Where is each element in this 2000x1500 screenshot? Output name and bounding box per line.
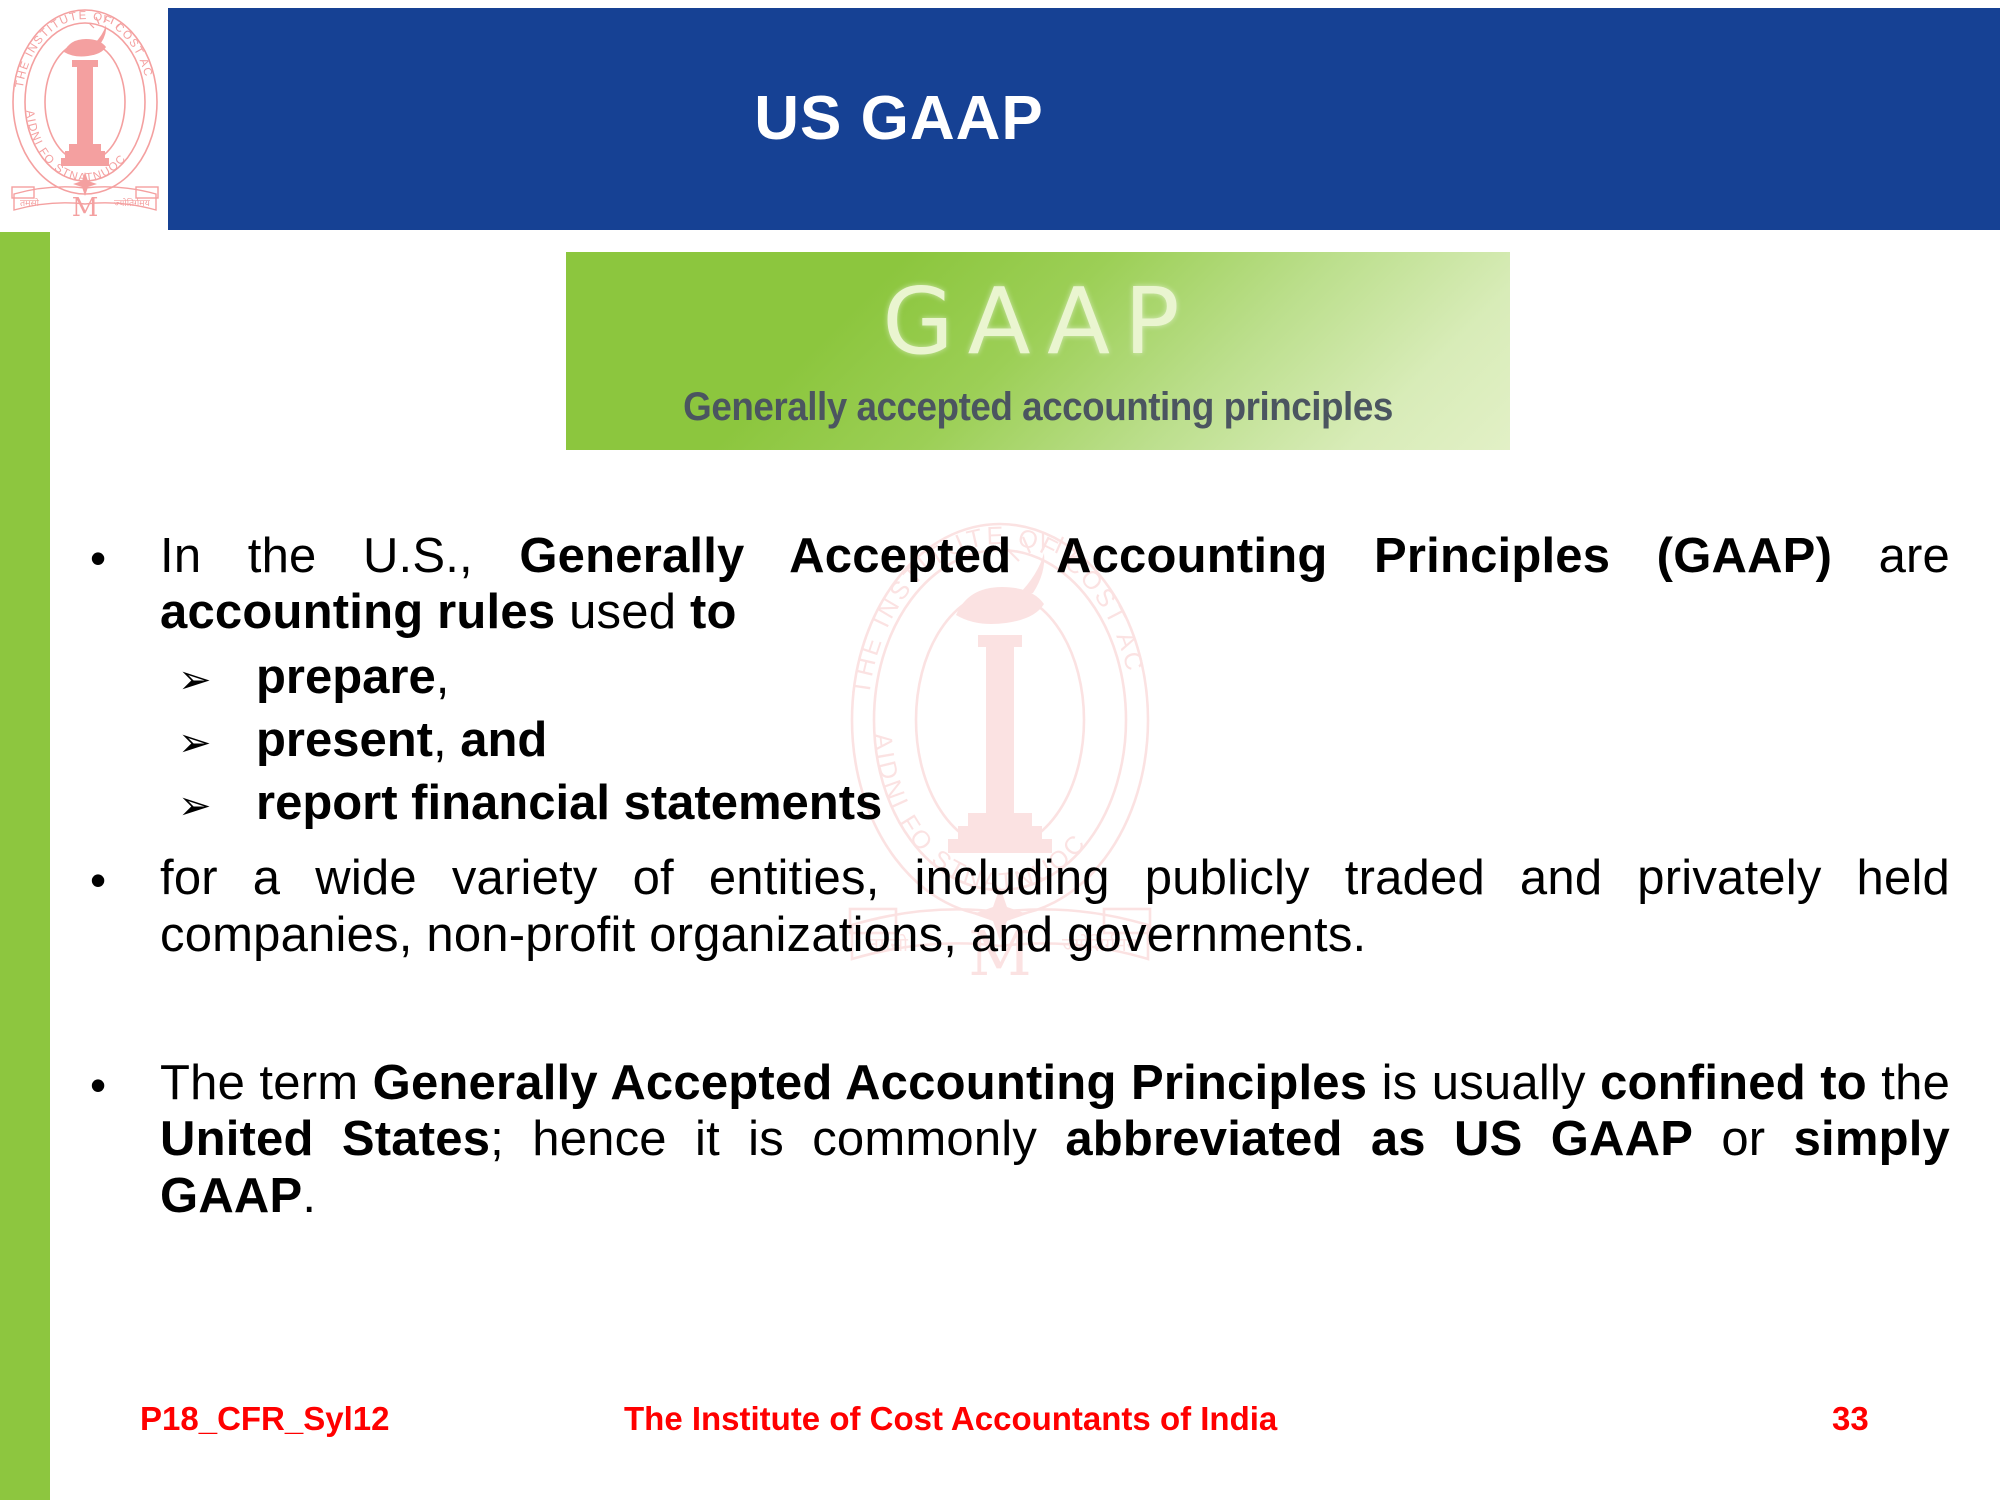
sub-run: ,	[436, 650, 450, 704]
spacer	[60, 836, 1950, 850]
spacer	[60, 963, 1950, 1055]
bullet-run: the	[1867, 1056, 1950, 1110]
bullet-run: .	[302, 1169, 316, 1223]
bullet-run: to	[690, 585, 737, 639]
bullet-run: United States	[160, 1112, 490, 1166]
bullet-run: Generally Accepted Accounting Principles…	[519, 529, 1832, 583]
sub-bullet-item: ➢ present, and	[60, 710, 1950, 771]
bullet-run: abbreviated as US GAAP	[1065, 1112, 1693, 1166]
sub-run: prepare	[256, 650, 436, 704]
bullet-run: accounting rules	[160, 585, 555, 639]
sub-run: ,	[433, 713, 460, 767]
logo-banner-letter: M	[72, 193, 99, 223]
sub-bullet-marker: ➢	[60, 718, 256, 768]
bullet-run: The term	[160, 1056, 373, 1110]
bullet-run: are	[1832, 529, 1950, 583]
footer-page-number: 33	[1832, 1400, 1869, 1438]
sub-bullet-marker: ➢	[60, 781, 256, 831]
bullet-run: ; hence it is commonly	[490, 1112, 1065, 1166]
footer-syllabus-code: P18_CFR_Syl12	[140, 1400, 389, 1438]
left-accent-bar	[0, 232, 50, 1500]
gaap-subtitle: Generally accepted accounting principles	[604, 385, 1472, 430]
sub-bullet-marker: ➢	[60, 655, 256, 705]
bullet-run: used	[555, 585, 690, 639]
bullet-run: is usually	[1367, 1056, 1600, 1110]
sub-run: present	[256, 713, 433, 767]
bullet-text: In the U.S., Generally Accepted Accounti…	[160, 528, 1950, 641]
bullet-run: for a wide variety of entities, includin…	[160, 851, 1950, 961]
logo-banner-left: तमसो	[20, 197, 40, 209]
bullet-marker: •	[60, 528, 160, 588]
sub-bullet-text: report financial statements	[256, 773, 882, 834]
institute-logo-icon: तमसो ज्योतिर्गमय M THE INSTITUTE OF COST…	[6, 4, 164, 226]
bullet-item: • The term Generally Accepted Accounting…	[60, 1055, 1950, 1224]
bullet-text: The term Generally Accepted Accounting P…	[160, 1055, 1950, 1224]
sub-bullet-text: prepare,	[256, 647, 449, 708]
bullet-run: In the U.S.,	[160, 529, 519, 583]
slide-body: • In the U.S., Generally Accepted Accoun…	[60, 528, 1950, 1224]
sub-bullet-list: ➢ prepare, ➢ present, and ➢ report finan…	[60, 647, 1950, 835]
slide-canvas: US GAAP	[0, 0, 2000, 1500]
footer-institute-name: The Institute of Cost Accountants of Ind…	[624, 1400, 1277, 1438]
bullet-marker: •	[60, 1055, 160, 1115]
bullet-run: Generally Accepted Accounting Principles	[373, 1056, 1368, 1110]
sub-run: and	[460, 713, 547, 767]
gaap-banner-image: GAAP Generally accepted accounting princ…	[566, 252, 1510, 450]
gaap-wordmark: GAAP	[566, 268, 1510, 375]
sub-run: report financial statements	[256, 776, 882, 830]
page-title: US GAAP	[168, 8, 2000, 230]
title-banner: US GAAP	[168, 8, 2000, 230]
sub-bullet-text: present, and	[256, 710, 547, 771]
bullet-item: • In the U.S., Generally Accepted Accoun…	[60, 528, 1950, 641]
sub-bullet-item: ➢ report financial statements	[60, 773, 1950, 834]
bullet-item: • for a wide variety of entities, includ…	[60, 850, 1950, 963]
bullet-run: or	[1693, 1112, 1793, 1166]
slide-footer: P18_CFR_Syl12 The Institute of Cost Acco…	[0, 1400, 2000, 1460]
bullet-text: for a wide variety of entities, includin…	[160, 850, 1950, 963]
bullet-marker: •	[60, 850, 160, 910]
logo-banner-right: ज्योतिर्गमय	[114, 197, 151, 209]
bullet-run: confined to	[1600, 1056, 1867, 1110]
sub-bullet-item: ➢ prepare,	[60, 647, 1950, 708]
